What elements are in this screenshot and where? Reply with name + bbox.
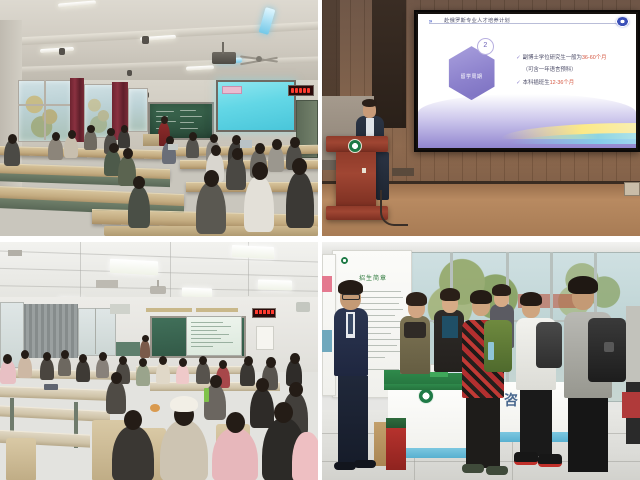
person-suit-tie bbox=[348, 314, 353, 334]
slide-title-divider bbox=[429, 23, 625, 24]
photo-collage: Dim university classroom with teacher at… bbox=[0, 0, 640, 480]
student bbox=[96, 358, 109, 378]
wall-speaker bbox=[110, 304, 130, 314]
projection-screen: » 赴俄罗斯专业人才培养计划 留学周期 2 ✓副博士学位研究生一般为36-60个… bbox=[414, 10, 640, 152]
student-head bbox=[21, 350, 29, 359]
student bbox=[136, 364, 150, 386]
student-foreground bbox=[196, 182, 226, 234]
student bbox=[250, 388, 274, 428]
person-hair bbox=[470, 290, 492, 304]
student-head bbox=[109, 143, 119, 153]
student bbox=[64, 136, 78, 158]
student-head bbox=[159, 356, 167, 365]
laptop bbox=[240, 140, 252, 148]
presentation-slide: » 赴俄罗斯专业人才培养计划 留学周期 2 ✓副博士学位研究生一般为36-60个… bbox=[418, 14, 636, 148]
podium-column bbox=[336, 152, 376, 206]
projector bbox=[212, 52, 236, 64]
ceiling-fan-hub bbox=[256, 56, 262, 62]
student-head bbox=[255, 143, 265, 154]
wall-panel-dark bbox=[322, 0, 340, 96]
floor-socket bbox=[392, 168, 414, 176]
student bbox=[156, 362, 170, 384]
shoe bbox=[462, 464, 484, 473]
slide-step-badge: 2 bbox=[477, 38, 494, 55]
booth-scene: 招生简章 bbox=[322, 242, 640, 480]
student-head bbox=[123, 148, 133, 159]
auditorium-scene: » 赴俄罗斯专业人才培养计划 留学周期 2 ✓副博士学位研究生一般为36-60个… bbox=[322, 0, 640, 236]
student bbox=[106, 380, 126, 414]
student-head bbox=[179, 358, 187, 367]
slide-bullet-2: （可含一年语言预科） bbox=[523, 65, 577, 73]
student-head bbox=[226, 412, 245, 433]
lecturer bbox=[140, 340, 150, 358]
student-head bbox=[79, 354, 87, 363]
person-top bbox=[442, 316, 458, 338]
student-head bbox=[274, 402, 293, 423]
person-hair bbox=[338, 280, 363, 295]
student-head bbox=[252, 162, 268, 180]
projector bbox=[150, 286, 166, 294]
student-head bbox=[99, 352, 107, 361]
slide-bullet-3: ✓本科插班生12-36个月 bbox=[516, 78, 574, 86]
wall-speaker bbox=[296, 302, 310, 312]
student-foreground bbox=[244, 176, 274, 232]
slide-bullet-1: ✓副博士学位研究生一般为36-60个月 bbox=[516, 53, 606, 61]
student-head bbox=[292, 158, 307, 175]
student-head bbox=[219, 360, 227, 369]
led-sign bbox=[288, 85, 314, 96]
snack bbox=[150, 404, 160, 412]
curtain bbox=[20, 304, 78, 358]
wall-panel-dark bbox=[372, 0, 406, 128]
ceiling-vent bbox=[96, 280, 118, 288]
student bbox=[18, 356, 32, 378]
student-head bbox=[189, 132, 197, 141]
student-head bbox=[290, 353, 300, 364]
student-head bbox=[232, 148, 243, 160]
student bbox=[226, 156, 246, 190]
classroom-scene: Dim university classroom with teacher at… bbox=[0, 0, 318, 236]
student-head bbox=[43, 352, 51, 361]
led-sign bbox=[252, 308, 276, 318]
backpack-pocket bbox=[604, 342, 614, 352]
student bbox=[58, 356, 71, 376]
projector-mount bbox=[222, 42, 224, 54]
booth-emblem-icon bbox=[418, 388, 434, 404]
student-head bbox=[111, 372, 122, 384]
slide-hexagon-label: 留学周期 bbox=[449, 73, 495, 80]
slide-bullet-3-highlight: 12-36个月 bbox=[550, 80, 575, 86]
student-foreground bbox=[212, 428, 258, 480]
desk-row bbox=[136, 366, 246, 374]
lectern bbox=[116, 342, 140, 356]
red-box bbox=[386, 426, 406, 470]
person-legs bbox=[466, 398, 500, 468]
shoe bbox=[334, 462, 356, 470]
student-head bbox=[87, 125, 95, 133]
poster-image-block bbox=[322, 276, 332, 292]
student-head bbox=[8, 134, 17, 144]
podium bbox=[143, 134, 159, 146]
poster-title: 招生简章 bbox=[359, 273, 387, 282]
speaker-hair bbox=[362, 99, 377, 107]
student-head bbox=[124, 410, 142, 430]
student bbox=[176, 364, 189, 384]
student-head bbox=[290, 137, 300, 148]
teacher-head bbox=[161, 116, 168, 124]
panel-light bbox=[232, 245, 274, 259]
auditorium-presentation-photo[interactable]: » 赴俄罗斯专业人才培养计划 留学周期 2 ✓副博士学位研究生一般为36-60个… bbox=[322, 0, 640, 236]
screen-slide-tab bbox=[222, 86, 242, 94]
student-head bbox=[272, 139, 282, 150]
projection-screen bbox=[216, 80, 296, 132]
shoe bbox=[486, 466, 508, 475]
shoe bbox=[514, 452, 538, 465]
student-head bbox=[133, 176, 145, 189]
person-suit-legs bbox=[338, 376, 368, 464]
student-head bbox=[61, 350, 69, 359]
wall-outlet bbox=[624, 182, 640, 196]
student-head bbox=[289, 382, 303, 397]
student-head bbox=[139, 358, 147, 367]
drink-bottle bbox=[204, 388, 209, 402]
bag bbox=[44, 384, 58, 390]
student-head bbox=[210, 134, 218, 143]
organization-logo-icon bbox=[616, 17, 629, 27]
bag bbox=[622, 392, 640, 418]
desk-row bbox=[0, 386, 122, 402]
student-head bbox=[119, 356, 127, 365]
student-head bbox=[3, 354, 12, 364]
lecturer-head bbox=[142, 335, 149, 342]
water-bottle bbox=[488, 342, 494, 360]
student-head bbox=[256, 378, 269, 392]
person-hair bbox=[492, 284, 511, 296]
student-head bbox=[199, 356, 207, 365]
check-icon: ✓ bbox=[516, 80, 521, 86]
person-legs bbox=[520, 390, 552, 456]
backpack bbox=[536, 322, 562, 368]
window-mullion bbox=[95, 308, 96, 354]
ceiling-tile-line bbox=[170, 242, 171, 300]
check-icon: ✓ bbox=[516, 55, 521, 61]
slide-bullet-1-highlight: 36-60个月 bbox=[582, 55, 607, 61]
slide-bullet-1-text: 副博士学位研究生一般为 bbox=[523, 55, 582, 61]
student-head bbox=[68, 130, 76, 139]
chair bbox=[6, 438, 36, 480]
student-head bbox=[107, 128, 115, 136]
scarf bbox=[404, 322, 426, 338]
person-hair bbox=[520, 292, 542, 306]
brochure-green bbox=[430, 372, 448, 377]
student-head bbox=[204, 170, 219, 187]
window-mullion bbox=[44, 80, 46, 140]
ceiling-tile-line bbox=[80, 242, 81, 302]
person-legs bbox=[568, 398, 608, 472]
lecture-hall-scene: Bright daylight lecture hall full of sea… bbox=[0, 242, 318, 480]
security-camera bbox=[127, 70, 132, 76]
person-hair bbox=[440, 288, 460, 301]
cable bbox=[380, 190, 408, 226]
student bbox=[186, 138, 199, 158]
wall-notice bbox=[256, 326, 274, 350]
student-foreground bbox=[128, 186, 150, 228]
person-hair bbox=[406, 292, 427, 306]
recruitment-booth-photo[interactable]: 招生简章 bbox=[322, 242, 640, 480]
student-foreground bbox=[292, 432, 318, 480]
security-camera bbox=[59, 48, 65, 55]
window bbox=[78, 308, 116, 356]
window-mullion bbox=[18, 104, 70, 106]
student-foreground bbox=[286, 172, 314, 228]
ceiling-vent bbox=[8, 250, 22, 256]
podium-base bbox=[326, 206, 388, 220]
sun-hat bbox=[170, 396, 198, 412]
security-camera bbox=[142, 36, 149, 44]
poster-image-block bbox=[322, 330, 332, 352]
student bbox=[196, 362, 210, 384]
student-head bbox=[52, 132, 60, 141]
student-head bbox=[266, 357, 276, 368]
student bbox=[76, 360, 90, 382]
box-lid bbox=[386, 418, 406, 428]
panel-light bbox=[110, 259, 158, 276]
panel-light bbox=[258, 279, 292, 290]
laptop bbox=[168, 144, 178, 150]
slide-bullet-2-text: （可含一年语言预科） bbox=[523, 67, 577, 73]
bright-lecture-hall-photo[interactable]: Bright daylight lecture hall full of sea… bbox=[0, 242, 318, 480]
window bbox=[128, 88, 148, 132]
person-hair bbox=[568, 276, 598, 294]
student-head bbox=[210, 375, 222, 388]
shoe bbox=[354, 460, 376, 468]
podium-button bbox=[362, 168, 366, 173]
board-light bbox=[146, 308, 192, 312]
student-foreground bbox=[112, 426, 154, 480]
lecture-classroom-photo[interactable]: Dim university classroom with teacher at… bbox=[0, 0, 318, 236]
student-head bbox=[211, 145, 221, 156]
glasses-icon bbox=[342, 294, 360, 300]
shoe bbox=[538, 454, 562, 467]
student-head bbox=[121, 125, 128, 133]
student-foreground bbox=[160, 420, 208, 480]
student bbox=[84, 130, 97, 150]
podium-emblem-icon bbox=[348, 139, 362, 153]
projector-mount bbox=[157, 280, 159, 287]
slide-bullet-3-text: 本科插班生 bbox=[523, 80, 550, 86]
person-partial bbox=[626, 306, 640, 382]
projection-screen bbox=[186, 316, 242, 356]
board-light bbox=[196, 308, 238, 312]
student-head bbox=[244, 356, 253, 366]
student bbox=[40, 358, 54, 380]
student bbox=[48, 138, 63, 160]
